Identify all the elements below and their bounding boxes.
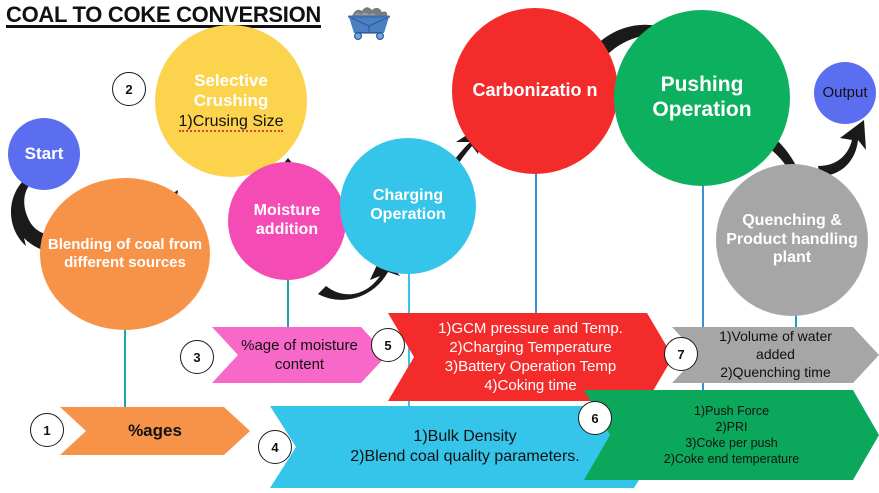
banner-percentages[interactable]: %ages (60, 407, 250, 455)
node-charging-label: Charging Operation (340, 187, 476, 225)
badge-5[interactable]: 5 (371, 328, 405, 362)
banner-3-text: %age of moisture content (212, 336, 387, 374)
node-blending-label: Blending of coal from different sources (40, 236, 210, 271)
banner-7-text: 1)Volume of water added2)Quenching time (672, 328, 879, 382)
node-moisture-label: Moisture addition (228, 202, 346, 240)
node-crushing-sub: 1)Crusing Size (159, 113, 303, 132)
page-title: COAL TO COKE CONVERSION (6, 2, 321, 28)
node-pushing-label: Pushing Operation (614, 73, 790, 123)
banner-moisture-content[interactable]: %age of moisture content (212, 327, 387, 383)
badge-4-label: 4 (271, 440, 278, 455)
node-start-label: Start (8, 144, 80, 164)
node-pushing-operation[interactable]: Pushing Operation (614, 10, 790, 186)
badge-6[interactable]: 6 (578, 401, 612, 435)
node-selective-crushing[interactable]: Selective Crushing 1)Crusing Size (155, 25, 307, 177)
node-output-label: Output (814, 84, 876, 102)
node-charging-operation[interactable]: Charging Operation (340, 138, 476, 274)
node-blending[interactable]: Blending of coal from different sources (40, 178, 210, 330)
connector-carbonization (535, 172, 537, 317)
banner-5-text: 1)GCM pressure and Temp.2)Charging Tempe… (388, 319, 673, 396)
connector-blending (124, 330, 126, 410)
badge-3[interactable]: 3 (180, 340, 214, 374)
badge-2[interactable]: 2 (112, 72, 146, 106)
banner-1-text: %ages (60, 420, 250, 442)
connector-moisture (287, 278, 289, 330)
node-quenching-plant[interactable]: Quenching & Product handling plant (716, 164, 868, 316)
badge-4[interactable]: 4 (258, 430, 292, 464)
badge-2-label: 2 (125, 82, 132, 97)
node-carbonization[interactable]: Carbonizatio n (452, 8, 618, 174)
node-output[interactable]: Output (814, 62, 876, 124)
coal-cart-icon (340, 2, 398, 42)
node-moisture-addition[interactable]: Moisture addition (228, 162, 346, 280)
node-quenching-label: Quenching & Product handling plant (716, 212, 868, 269)
banner-quenching-params[interactable]: 1)Volume of water added2)Quenching time (672, 327, 879, 383)
banner-carbonization-params[interactable]: 1)GCM pressure and Temp.2)Charging Tempe… (388, 313, 673, 401)
node-start[interactable]: Start (8, 118, 80, 190)
node-crushing-heading: Selective Crushing (159, 71, 303, 111)
badge-7[interactable]: 7 (664, 337, 698, 371)
badge-7-label: 7 (677, 347, 684, 362)
banner-6-text: 1)Push Force2)PRI3)Coke per push2)Coke e… (584, 403, 879, 467)
badge-5-label: 5 (384, 338, 391, 353)
badge-6-label: 6 (591, 411, 598, 426)
badge-3-label: 3 (193, 350, 200, 365)
badge-1-label: 1 (43, 423, 50, 438)
banner-pushing-params[interactable]: 1)Push Force2)PRI3)Coke per push2)Coke e… (584, 390, 879, 480)
diagram-canvas: COAL TO COKE CONVERSION (0, 0, 879, 493)
node-carbonization-label: Carbonizatio n (452, 80, 618, 101)
badge-1[interactable]: 1 (30, 413, 64, 447)
